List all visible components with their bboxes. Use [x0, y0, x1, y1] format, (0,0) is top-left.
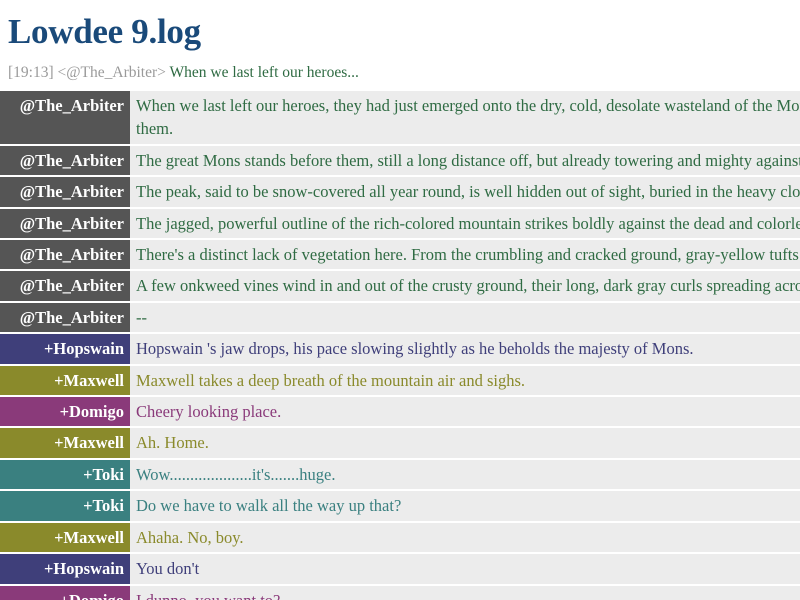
chat-message: I dunno, you want to?: [130, 586, 800, 600]
chat-message: Do we have to walk all the way up that?: [130, 491, 800, 520]
chat-message: The jagged, powerful outline of the rich…: [130, 209, 800, 238]
chat-log-row: @The_ArbiterA few onkweed vines wind in …: [0, 271, 800, 300]
chat-message: Ah. Home.: [130, 428, 800, 457]
chat-nick[interactable]: +Maxwell: [0, 428, 130, 457]
chat-log-row: +MaxwellMaxwell takes a deep breath of t…: [0, 366, 800, 395]
chat-message: Hopswain 's jaw drops, his pace slowing …: [130, 334, 800, 363]
chat-nick[interactable]: +Hopswain: [0, 334, 130, 363]
chat-message: The great Mons stands before them, still…: [130, 146, 800, 175]
chat-nick[interactable]: +Maxwell: [0, 366, 130, 395]
chat-nick[interactable]: +Domigo: [0, 397, 130, 426]
chat-log-row: +MaxwellAh. Home.: [0, 428, 800, 457]
chat-message: There's a distinct lack of vegetation he…: [130, 240, 800, 269]
preamble-nick: <@The_Arbiter>: [58, 64, 166, 81]
chat-message: A few onkweed vines wind in and out of t…: [130, 271, 800, 300]
chat-message: Maxwell takes a deep breath of the mount…: [130, 366, 800, 395]
chat-log-table: @The_ArbiterWhen we last left our heroes…: [0, 89, 800, 600]
chat-nick[interactable]: @The_Arbiter: [0, 240, 130, 269]
chat-message: Cheery looking place.: [130, 397, 800, 426]
chat-nick[interactable]: +Hopswain: [0, 554, 130, 583]
chat-log-row: +DomigoI dunno, you want to?: [0, 586, 800, 600]
chat-nick[interactable]: +Domigo: [0, 586, 130, 600]
chat-message: The peak, said to be snow-covered all ye…: [130, 177, 800, 206]
chat-nick[interactable]: @The_Arbiter: [0, 209, 130, 238]
preamble-line: [19:13] <@The_Arbiter> When we last left…: [0, 52, 800, 89]
chat-log-row: +DomigoCheery looking place.: [0, 397, 800, 426]
chat-log-row: @The_ArbiterThe jagged, powerful outline…: [0, 209, 800, 238]
chat-nick[interactable]: @The_Arbiter: [0, 177, 130, 206]
page-title: Lowdee 9.log: [0, 0, 800, 52]
chat-message: You don't: [130, 554, 800, 583]
preamble-message: When we last left our heroes...: [170, 64, 359, 81]
chat-log-row: @The_ArbiterThe great Mons stands before…: [0, 146, 800, 175]
chat-log-row: +TokiWow....................it's.......h…: [0, 460, 800, 489]
chat-nick[interactable]: @The_Arbiter: [0, 271, 130, 300]
chat-nick[interactable]: @The_Arbiter: [0, 303, 130, 332]
chat-nick[interactable]: +Toki: [0, 491, 130, 520]
chat-log-row: @The_ArbiterThere's a distinct lack of v…: [0, 240, 800, 269]
chat-log-row: @The_Arbiter--: [0, 303, 800, 332]
chat-log-row: @The_ArbiterThe peak, said to be snow-co…: [0, 177, 800, 206]
chat-log-row: +MaxwellAhaha. No, boy.: [0, 523, 800, 552]
chat-nick[interactable]: @The_Arbiter: [0, 146, 130, 175]
chat-message: Ahaha. No, boy.: [130, 523, 800, 552]
chat-message: When we last left our heroes, they had j…: [130, 91, 800, 144]
preamble-timestamp: [19:13]: [8, 64, 54, 81]
chat-log-row: +HopswainHopswain 's jaw drops, his pace…: [0, 334, 800, 363]
chat-log-row: +TokiDo we have to walk all the way up t…: [0, 491, 800, 520]
chat-log-row: @The_ArbiterWhen we last left our heroes…: [0, 91, 800, 144]
chat-nick[interactable]: @The_Arbiter: [0, 91, 130, 144]
chat-message: --: [130, 303, 800, 332]
chat-nick[interactable]: +Toki: [0, 460, 130, 489]
chat-log-row: +HopswainYou don't: [0, 554, 800, 583]
chat-log-body: @The_ArbiterWhen we last left our heroes…: [0, 91, 800, 600]
log-page: Lowdee 9.log [19:13] <@The_Arbiter> When…: [0, 0, 800, 600]
chat-message: Wow....................it's.......huge.: [130, 460, 800, 489]
chat-nick[interactable]: +Maxwell: [0, 523, 130, 552]
